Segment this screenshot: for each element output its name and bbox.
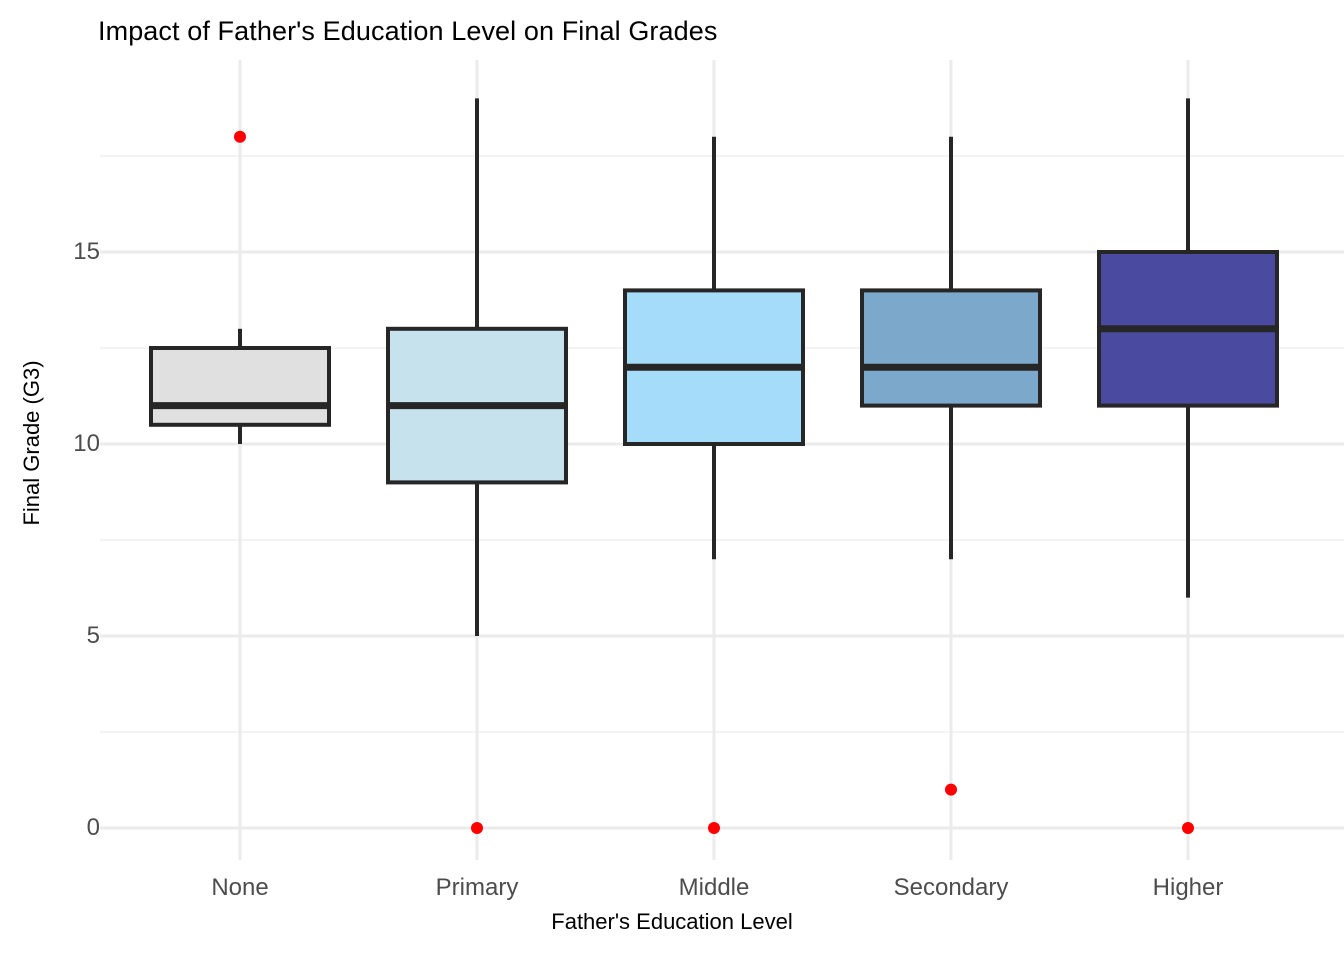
gridlines	[100, 60, 1344, 860]
outlier-point[interactable]	[471, 822, 483, 834]
y-axis-tick-label: 0	[0, 814, 100, 842]
outlier-point[interactable]	[234, 131, 246, 143]
y-axis-tick-label: 10	[0, 430, 100, 458]
x-axis-tick-label-secondary: Secondary	[894, 874, 1009, 902]
boxplot-higher[interactable]	[1099, 98, 1277, 597]
plot-canvas	[0, 0, 1344, 960]
y-axis-title: Final Grade (G3)	[19, 303, 45, 583]
outlier-point[interactable]	[945, 784, 957, 796]
boxplot-secondary[interactable]	[862, 137, 1040, 559]
y-axis-tick-label: 15	[0, 238, 100, 266]
outlier-point[interactable]	[1182, 822, 1194, 834]
x-axis-tick-label-higher: Higher	[1153, 874, 1224, 902]
y-axis-tick-label: 5	[0, 622, 100, 650]
box-iqr	[862, 290, 1040, 405]
boxplot-none[interactable]	[151, 329, 329, 444]
boxplot-middle[interactable]	[625, 137, 803, 559]
outlier-point[interactable]	[708, 822, 720, 834]
x-axis-tick-label-primary: Primary	[436, 874, 519, 902]
boxplots-layer	[151, 98, 1277, 636]
x-axis-title: Father's Education Level	[0, 909, 1344, 935]
x-axis-tick-label-none: None	[211, 874, 268, 902]
chart-root: Impact of Father's Education Level on Fi…	[0, 0, 1344, 960]
boxplot-primary[interactable]	[388, 98, 566, 636]
box-iqr	[151, 348, 329, 425]
x-axis-tick-label-middle: Middle	[679, 874, 750, 902]
